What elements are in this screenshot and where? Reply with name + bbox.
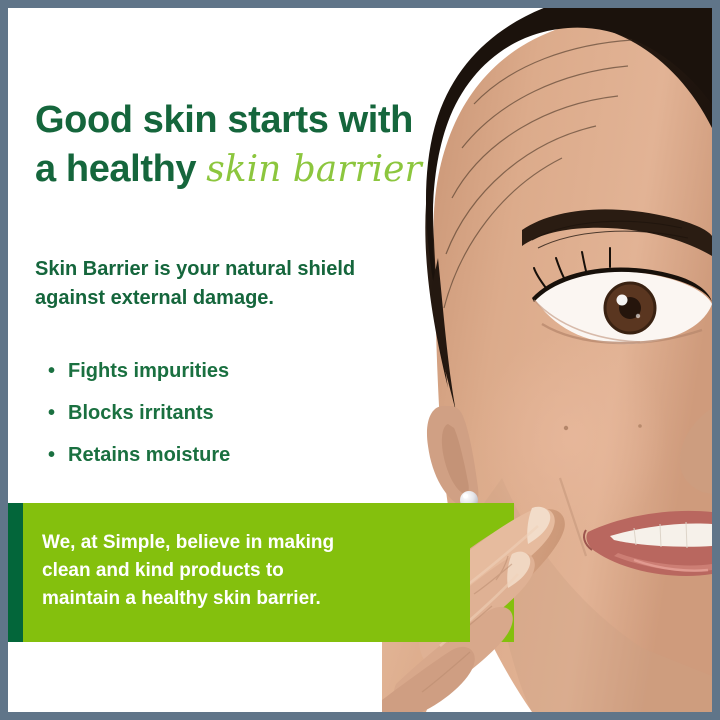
subheadline: Skin Barrier is your natural shield agai…	[35, 255, 435, 313]
ad-canvas: Good skin starts with a healthy skin bar…	[8, 8, 712, 712]
brand-statement-banner: We, at Simple, believe in making clean a…	[8, 503, 470, 642]
benefit-label: Retains moisture	[68, 444, 230, 466]
list-item: • Retains moisture	[48, 444, 230, 466]
subheadline-line-2: against external damage.	[35, 284, 435, 313]
bullet-dot-icon: •	[48, 360, 68, 382]
bullet-dot-icon: •	[48, 402, 68, 424]
subheadline-line-1: Skin Barrier is your natural shield	[35, 255, 435, 284]
headline-line-1: Good skin starts with	[35, 96, 455, 145]
benefits-list: • Fights impurities • Blocks irritants •…	[48, 360, 230, 486]
bullet-dot-icon: •	[48, 444, 68, 466]
headline-script-emphasis: skin barrier	[206, 149, 421, 190]
benefit-label: Fights impurities	[68, 360, 229, 382]
benefit-label: Blocks irritants	[68, 402, 214, 424]
banner-accent-stripe	[8, 503, 23, 642]
banner-text: We, at Simple, believe in making clean a…	[23, 503, 334, 642]
headline-line-2-plain: a healthy	[35, 148, 206, 190]
list-item: • Blocks irritants	[48, 402, 230, 424]
banner-line-1: We, at Simple, believe in making	[42, 529, 334, 557]
headline-line-2: a healthy skin barrier	[35, 145, 455, 194]
headline: Good skin starts with a healthy skin bar…	[35, 96, 455, 194]
banner-line-3: maintain a healthy skin barrier.	[42, 585, 334, 613]
banner-line-2: clean and kind products to	[42, 557, 334, 585]
ad-creative-root: Good skin starts with a healthy skin bar…	[0, 0, 720, 720]
list-item: • Fights impurities	[48, 360, 230, 382]
